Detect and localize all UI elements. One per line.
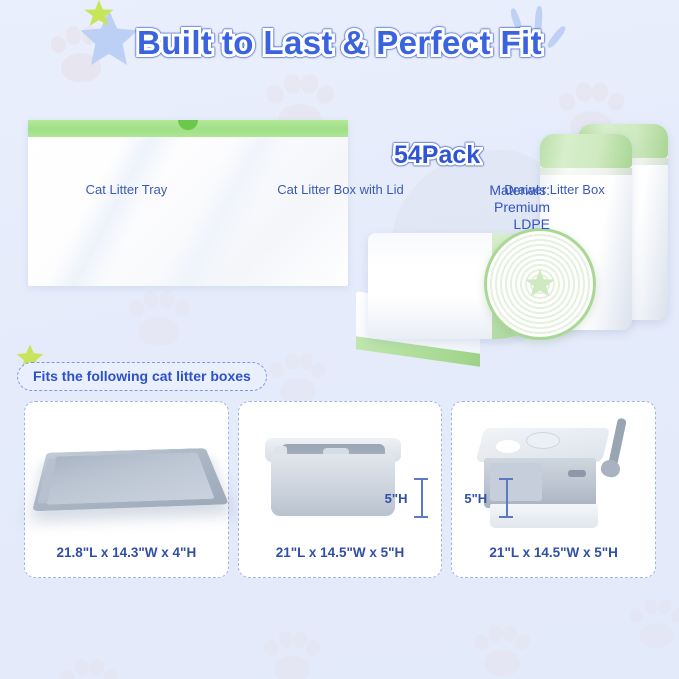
paw-print-icon <box>262 628 322 679</box>
pack-count-badge: 54Pack <box>394 141 480 170</box>
paw-print-icon <box>472 622 532 678</box>
card-cat-litter-tray[interactable]: 21.8"L x 14.3"W x 4"H <box>24 401 229 578</box>
card-drawer-litter-box[interactable]: 5"H 21"L x 14.5"W x 5"H <box>451 401 656 578</box>
page-title: Built to Last & Perfect Fit <box>0 24 679 62</box>
litter-box-body <box>265 424 401 520</box>
card-caption: Cat Litter Box with Lid <box>238 182 443 197</box>
paw-print-icon <box>58 656 120 679</box>
roll-spiral-end <box>484 228 596 340</box>
card-cat-litter-box-with-lid[interactable]: 5"H 21"L x 14.5"W x 5"H <box>238 401 443 578</box>
materials-line-3: LDPE <box>430 216 550 233</box>
card-dimensions: 21"L x 14.5"W x 5"H <box>452 545 655 560</box>
cat-litter-tray-image <box>25 402 228 537</box>
height-measure-label: 5"H <box>385 491 408 506</box>
materials-line-2: Premium <box>430 199 550 216</box>
drawer-box-body <box>474 418 624 530</box>
roll-cap-line <box>540 168 632 175</box>
liner-bag-image <box>28 120 348 286</box>
compatible-boxes-list: 21.8"L x 14.3"W x 4"H 5"H <box>24 401 656 578</box>
cat-litter-box-image: 5"H <box>239 402 442 537</box>
drawer-litter-box-image: 5"H <box>452 402 655 537</box>
card-dimensions: 21"L x 14.5"W x 5"H <box>239 545 442 560</box>
paw-print-icon <box>126 286 192 348</box>
paw-print-icon <box>628 596 679 650</box>
drawer-box-panel <box>490 463 542 501</box>
fits-section-label: Fits the following cat litter boxes <box>17 362 267 391</box>
roll-sheet-green-strip <box>356 336 480 366</box>
drawer-box-main <box>484 458 596 508</box>
litter-scoop-head-icon <box>600 458 622 479</box>
paw-print-icon <box>268 350 328 406</box>
litter-box-lower-body <box>271 454 395 516</box>
card-dimensions: 21.8"L x 14.3"W x 4"H <box>25 545 228 560</box>
page-title-text: Built to Last & Perfect Fit <box>137 24 542 62</box>
tray-inner <box>46 452 215 504</box>
roll-cap <box>540 134 632 168</box>
bag-sheen <box>28 137 348 286</box>
bag-green-strip <box>28 120 348 137</box>
infographic-page: Built to Last & Perfect Fit 54Pack Mater… <box>0 0 679 679</box>
height-measure-label: 5"H <box>464 491 487 506</box>
bag-notch-icon <box>178 120 198 130</box>
roll-star-core-icon <box>525 269 555 299</box>
card-caption: Drawer Litter Box <box>452 182 657 197</box>
tray-body <box>32 448 229 511</box>
drawer-box-handle <box>568 470 586 477</box>
card-caption: Cat Litter Tray <box>24 182 229 197</box>
